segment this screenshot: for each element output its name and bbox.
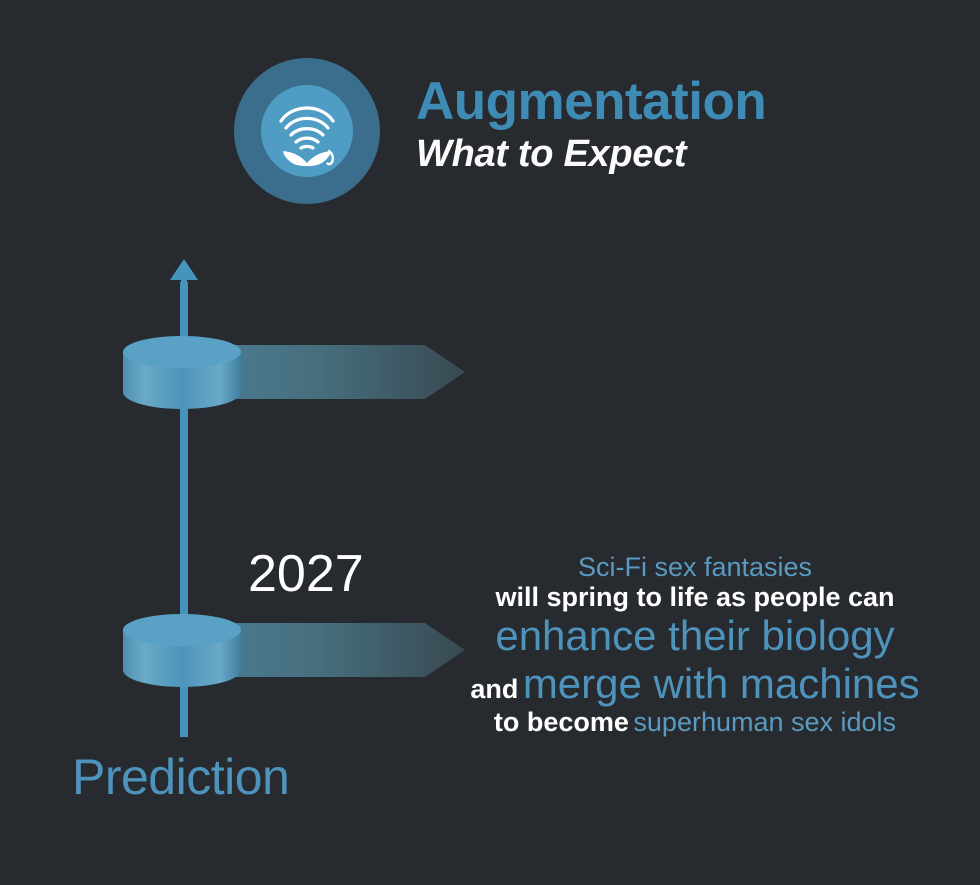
page-title: Augmentation [416,74,936,130]
wifi-signal-body-icon [261,85,353,177]
page-subtitle: What to Expect [416,134,936,176]
logo-inner-circle [261,85,353,177]
event-1-line-5: to become superhuman sex idols [460,707,930,737]
timeline-axis-label: Prediction [72,748,289,806]
cylinder-marker-icon [121,335,243,409]
event-1-line-4: and merge with machines [460,660,930,707]
header: Augmentation What to Expect [0,50,980,210]
event-1-line-3: enhance their biology [460,612,930,659]
event-1-line-4-prefix: and [470,674,518,704]
logo-badge [234,58,380,204]
cylinder-marker-icon [121,613,243,687]
header-text: Augmentation What to Expect [416,74,936,175]
event-1-text-block: Sci-Fi sex fantasies will spring to life… [460,552,930,737]
event-1-line-2: will spring to life as people can [460,582,930,612]
year-marker-2027: 2027 [248,548,364,600]
event-1-line-5-prefix: to become [494,707,629,737]
event-1-line-5-main: superhuman sex idols [633,707,896,737]
event-1-line-4-main: merge with machines [523,660,920,707]
infographic-canvas: Augmentation What to Expect [0,0,980,885]
event-1-line-1: Sci-Fi sex fantasies [460,552,930,582]
